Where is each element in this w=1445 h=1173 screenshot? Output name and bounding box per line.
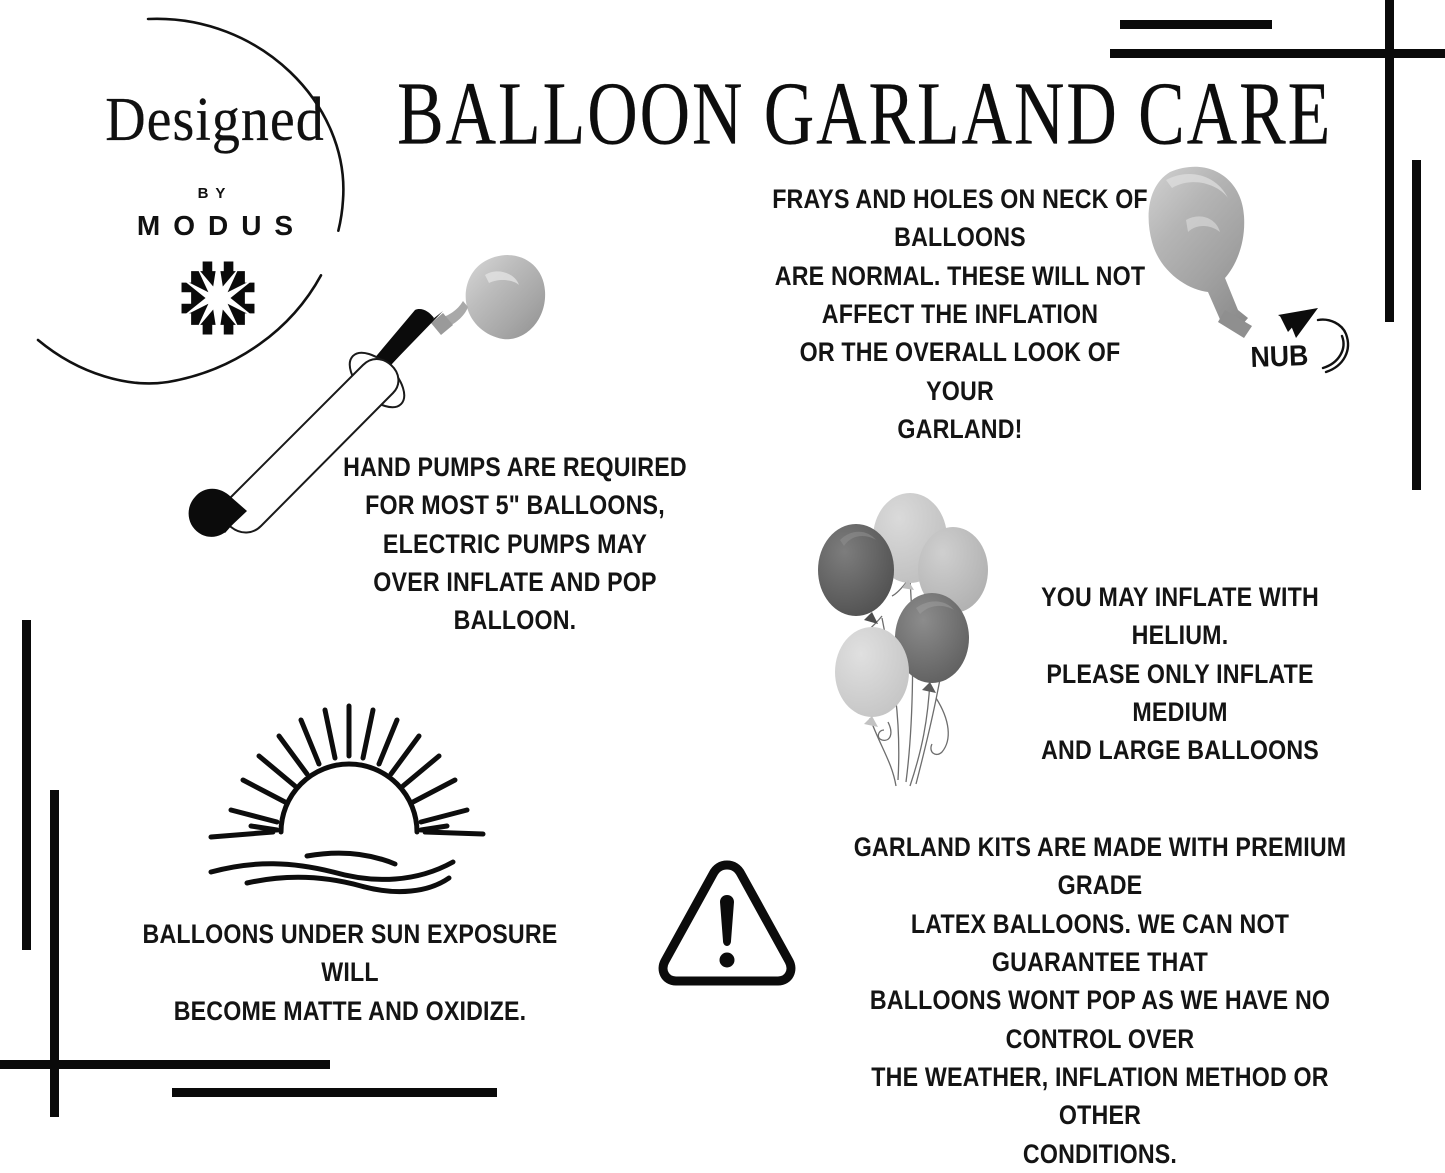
- pump-balloon: [431, 255, 545, 339]
- decor-bar-bottom-left-vertical-outer: [22, 620, 31, 950]
- caption-helium: YOU MAY INFLATE WITH HELIUM. PLEASE ONLY…: [1004, 578, 1357, 770]
- decor-bar-top-right-lower: [1110, 49, 1445, 58]
- decor-bar-right-vertical: [1412, 160, 1421, 490]
- decor-bar-bottom-left-lower: [172, 1088, 497, 1097]
- page-title: BALLOON GARLAND CARE: [397, 62, 1183, 166]
- decor-bar-bottom-left-upper: [0, 1060, 330, 1069]
- sunrise-icon: [185, 700, 515, 900]
- caption-sun-exposure: BALLOONS UNDER SUN EXPOSURE WILL BECOME …: [139, 915, 560, 1030]
- caption-hand-pumps: HAND PUMPS ARE REQUIRED FOR MOST 5" BALL…: [330, 448, 700, 640]
- balloon-dark-left: [818, 524, 894, 616]
- logo-script-word: Designed: [80, 84, 350, 156]
- balloon-body: [1149, 167, 1252, 338]
- warning-triangle-icon: [655, 857, 799, 989]
- caption-frays-and-holes: FRAYS AND HOLES ON NECK OF BALLOONS ARE …: [771, 180, 1149, 448]
- poster-canvas: Designed BY MODUS BALLOON GARLAND CARE: [0, 0, 1445, 1117]
- logo-by-label: BY: [80, 185, 350, 202]
- nub-label: NUB: [1250, 340, 1309, 375]
- decor-bar-top-right-upper: [1120, 20, 1272, 29]
- balloon-bunch-illustration: [810, 490, 1035, 790]
- decor-bar-top-right-vertical: [1385, 0, 1394, 322]
- balloon-light-bottom: [835, 627, 909, 717]
- nub-arrow: [1318, 320, 1348, 372]
- caption-latex-disclaimer: GARLAND KITS ARE MADE WITH PREMIUM GRADE…: [842, 828, 1358, 1173]
